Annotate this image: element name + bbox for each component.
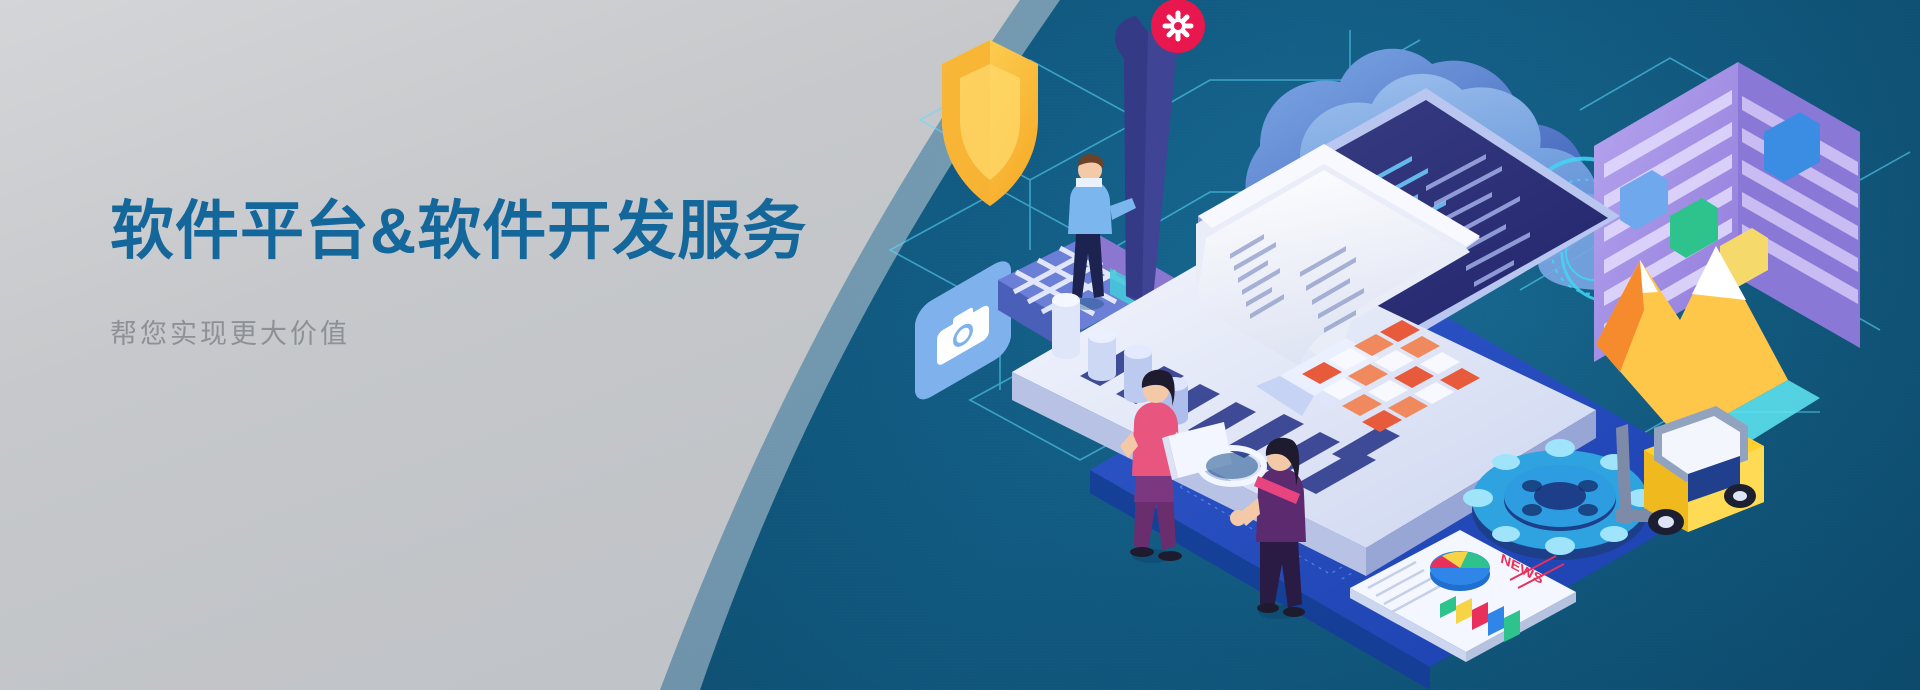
hero-banner: 软件平台&软件开发服务 帮您实现更大价值 bbox=[0, 0, 1920, 690]
camera-icon-tile[interactable] bbox=[915, 255, 1011, 406]
page-title: 软件平台&软件开发服务 bbox=[110, 196, 890, 268]
banner-copy: 软件平台&软件开发服务 帮您实现更大价值 bbox=[110, 196, 890, 351]
page-subtitle: 帮您实现更大价值 bbox=[110, 312, 890, 351]
shield-icon bbox=[942, 40, 1038, 206]
pie-chart-icon bbox=[1430, 551, 1490, 591]
illustration: NEWS bbox=[880, 0, 1920, 690]
